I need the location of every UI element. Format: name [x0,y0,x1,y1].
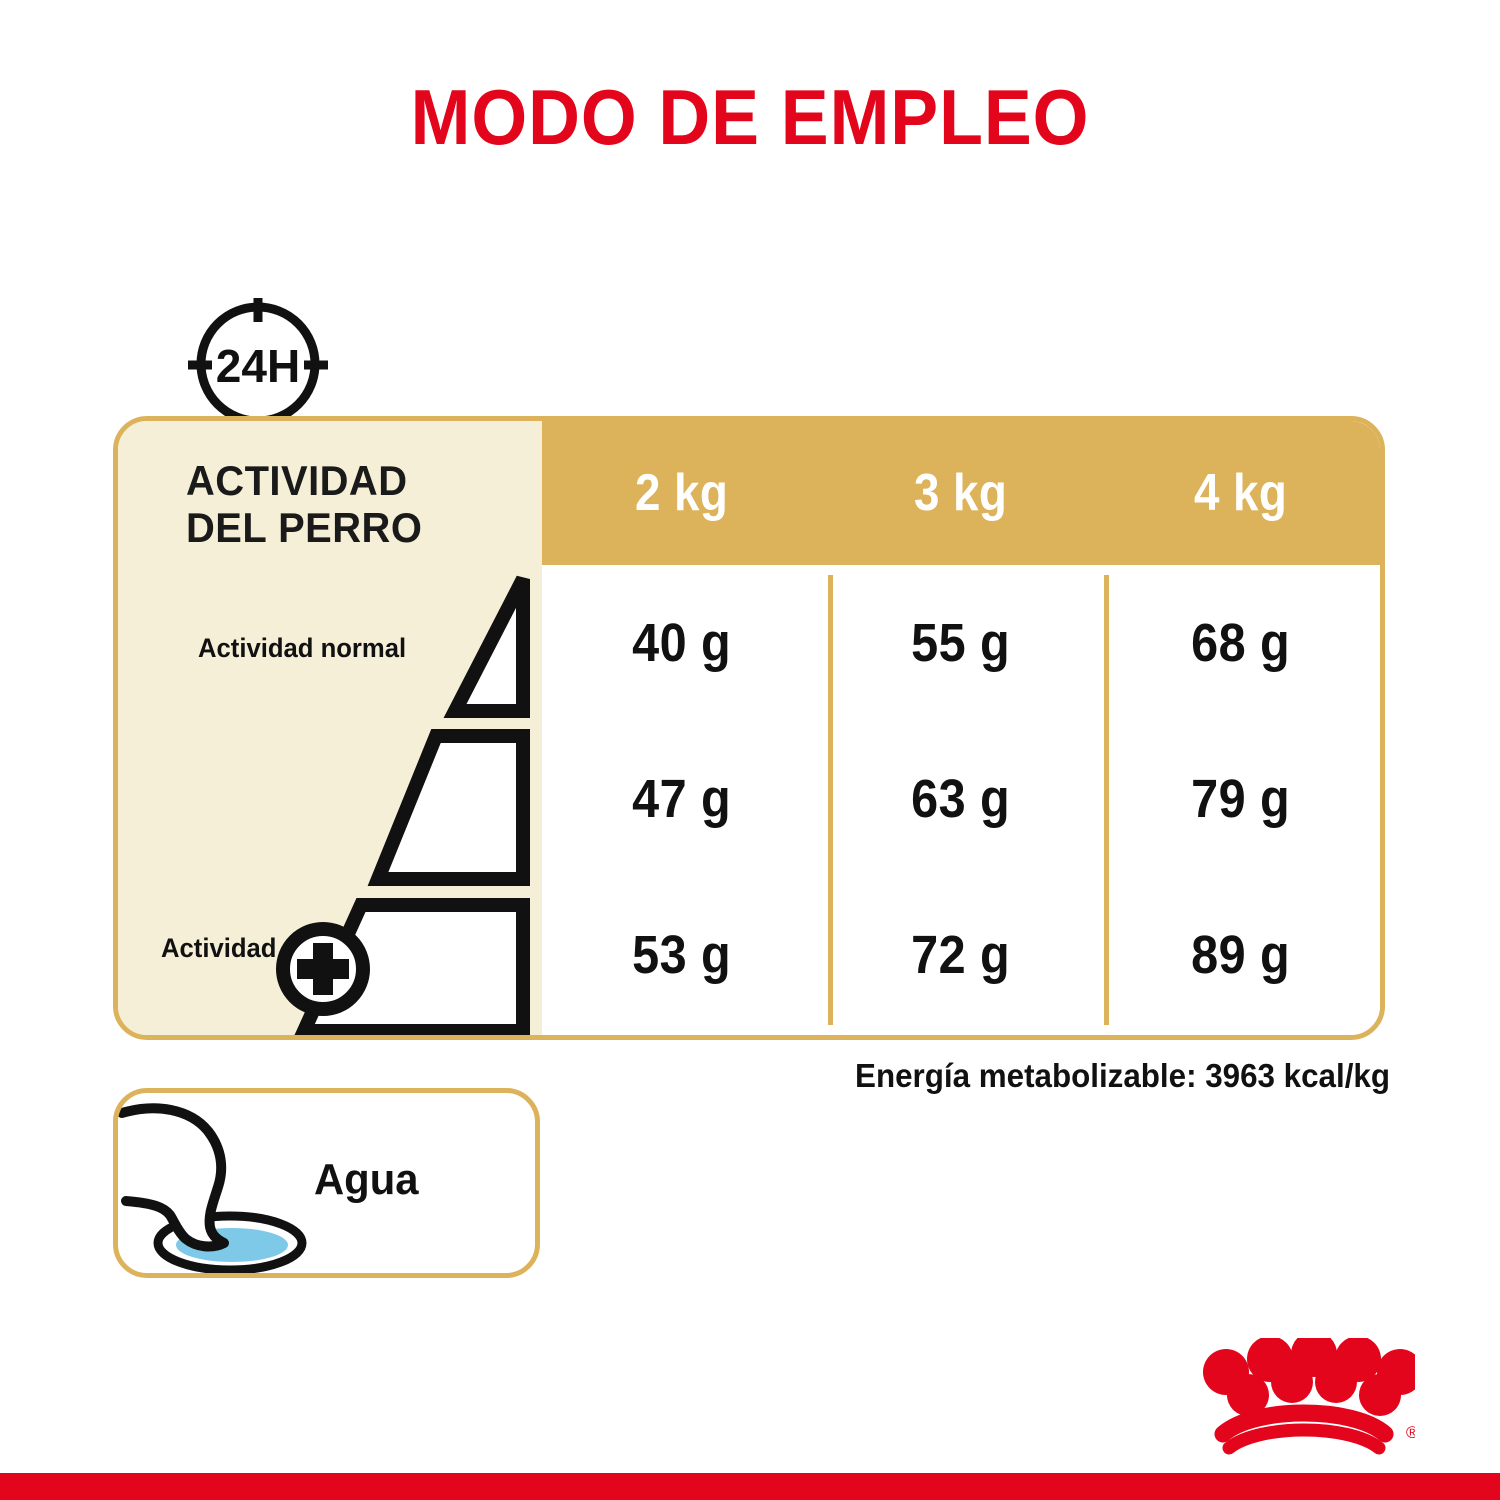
activity-label-normal: Actividad normal [198,633,406,664]
activity-label-plus: Actividad [161,933,276,964]
weight-header-2: 4 kg [1117,463,1363,523]
clock-24h-icon: 24H [170,296,346,424]
table-row: 40 g 55 g 68 g [542,565,1380,721]
activity-panel: ACTIVIDAD DEL PERRO Actividad normal Act… [118,421,542,1035]
activity-level-2-shape [378,736,523,879]
dog-drinking-water-icon [113,1091,342,1278]
water-label: Agua [314,1155,419,1205]
activity-column-header: ACTIVIDAD DEL PERRO [186,457,422,551]
cell-r0-c0: 40 g [556,612,807,674]
weight-header-1: 3 kg [838,463,1084,523]
table-row: 47 g 63 g 79 g [542,721,1380,877]
cell-r1-c2: 79 g [1115,768,1366,830]
cell-r2-c2: 89 g [1115,924,1366,986]
page-title: MODO DE EMPLEO [60,78,1440,156]
feeding-data-area: 2 kg 3 kg 4 kg 40 g 55 g 68 g 47 g 63 g … [542,421,1380,1035]
cell-r0-c1: 55 g [835,612,1086,674]
bottom-accent-bar [0,1473,1500,1500]
column-divider-2 [1104,575,1109,1025]
activity-header-line-1: ACTIVIDAD [186,457,422,504]
weight-header-0: 2 kg [559,463,805,523]
royal-canin-crown-logo: ® [1193,1338,1415,1456]
cell-r1-c0: 47 g [556,768,807,830]
24h-badge: 24H [170,296,346,424]
cell-r0-c2: 68 g [1115,612,1366,674]
activity-header-line-2: DEL PERRO [186,504,422,551]
feeding-rows: 40 g 55 g 68 g 47 g 63 g 79 g 53 g 72 g … [542,565,1380,1035]
badge-24h-text: 24H [216,340,300,392]
activity-level-1-shape [455,579,523,711]
crown-arcs [1223,1413,1385,1448]
water-box: Agua [113,1088,540,1278]
weights-header-row: 2 kg 3 kg 4 kg [542,421,1380,565]
dog-muzzle-shape [122,1108,224,1246]
crown-dots [1203,1338,1415,1416]
cell-r1-c1: 63 g [835,768,1086,830]
table-row: 53 g 72 g 89 g [542,877,1380,1033]
registered-mark: ® [1406,1423,1415,1442]
cell-r2-c0: 53 g [556,924,807,986]
cell-r2-c1: 72 g [835,924,1086,986]
column-divider-1 [828,575,833,1025]
feeding-table: ACTIVIDAD DEL PERRO Actividad normal Act… [113,416,1385,1040]
